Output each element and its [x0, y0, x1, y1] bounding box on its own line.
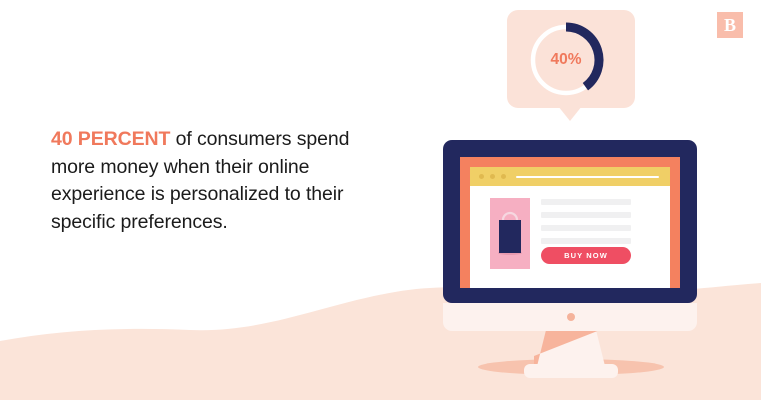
monitor-base	[443, 303, 697, 331]
monitor-bezel: BUY NOW	[460, 157, 680, 288]
brand-logo-letter: B	[724, 16, 736, 34]
content-text-lines	[541, 199, 631, 251]
monitor-frame: BUY NOW	[443, 140, 697, 303]
stat-callout-pointer	[558, 106, 582, 121]
stat-sentence: 40 PERCENT of consumers spend more money…	[51, 126, 391, 236]
browser-bar	[470, 167, 670, 186]
text-line	[541, 238, 631, 244]
stat-highlight: 40 PERCENT	[51, 128, 170, 150]
shopping-bag-icon	[490, 198, 530, 269]
bag-handle	[503, 213, 517, 220]
donut-value-arc	[566, 27, 599, 87]
illustration-canvas: B 40 PERCENT of consumers spend more mon…	[0, 0, 761, 400]
text-line	[541, 212, 631, 218]
brand-logo: B	[717, 12, 743, 38]
browser-dot-close[interactable]	[479, 174, 484, 179]
text-line	[541, 199, 631, 205]
monitor-screen: BUY NOW	[470, 167, 670, 288]
headline-copy: 40 PERCENT of consumers spend more money…	[51, 126, 391, 236]
stand-foot	[524, 364, 618, 378]
browser-address-bar[interactable]	[516, 176, 659, 178]
monitor-power-indicator	[567, 313, 575, 321]
donut-chart: 40%	[524, 18, 608, 102]
bag-body	[499, 220, 521, 253]
monitor-stand	[500, 328, 640, 378]
browser-dot-maximize[interactable]	[501, 174, 506, 179]
browser-page-body: BUY NOW	[470, 186, 670, 288]
buy-now-button[interactable]: BUY NOW	[541, 247, 631, 264]
donut-chart-svg	[524, 18, 608, 102]
text-line	[541, 225, 631, 231]
browser-dot-minimize[interactable]	[490, 174, 495, 179]
